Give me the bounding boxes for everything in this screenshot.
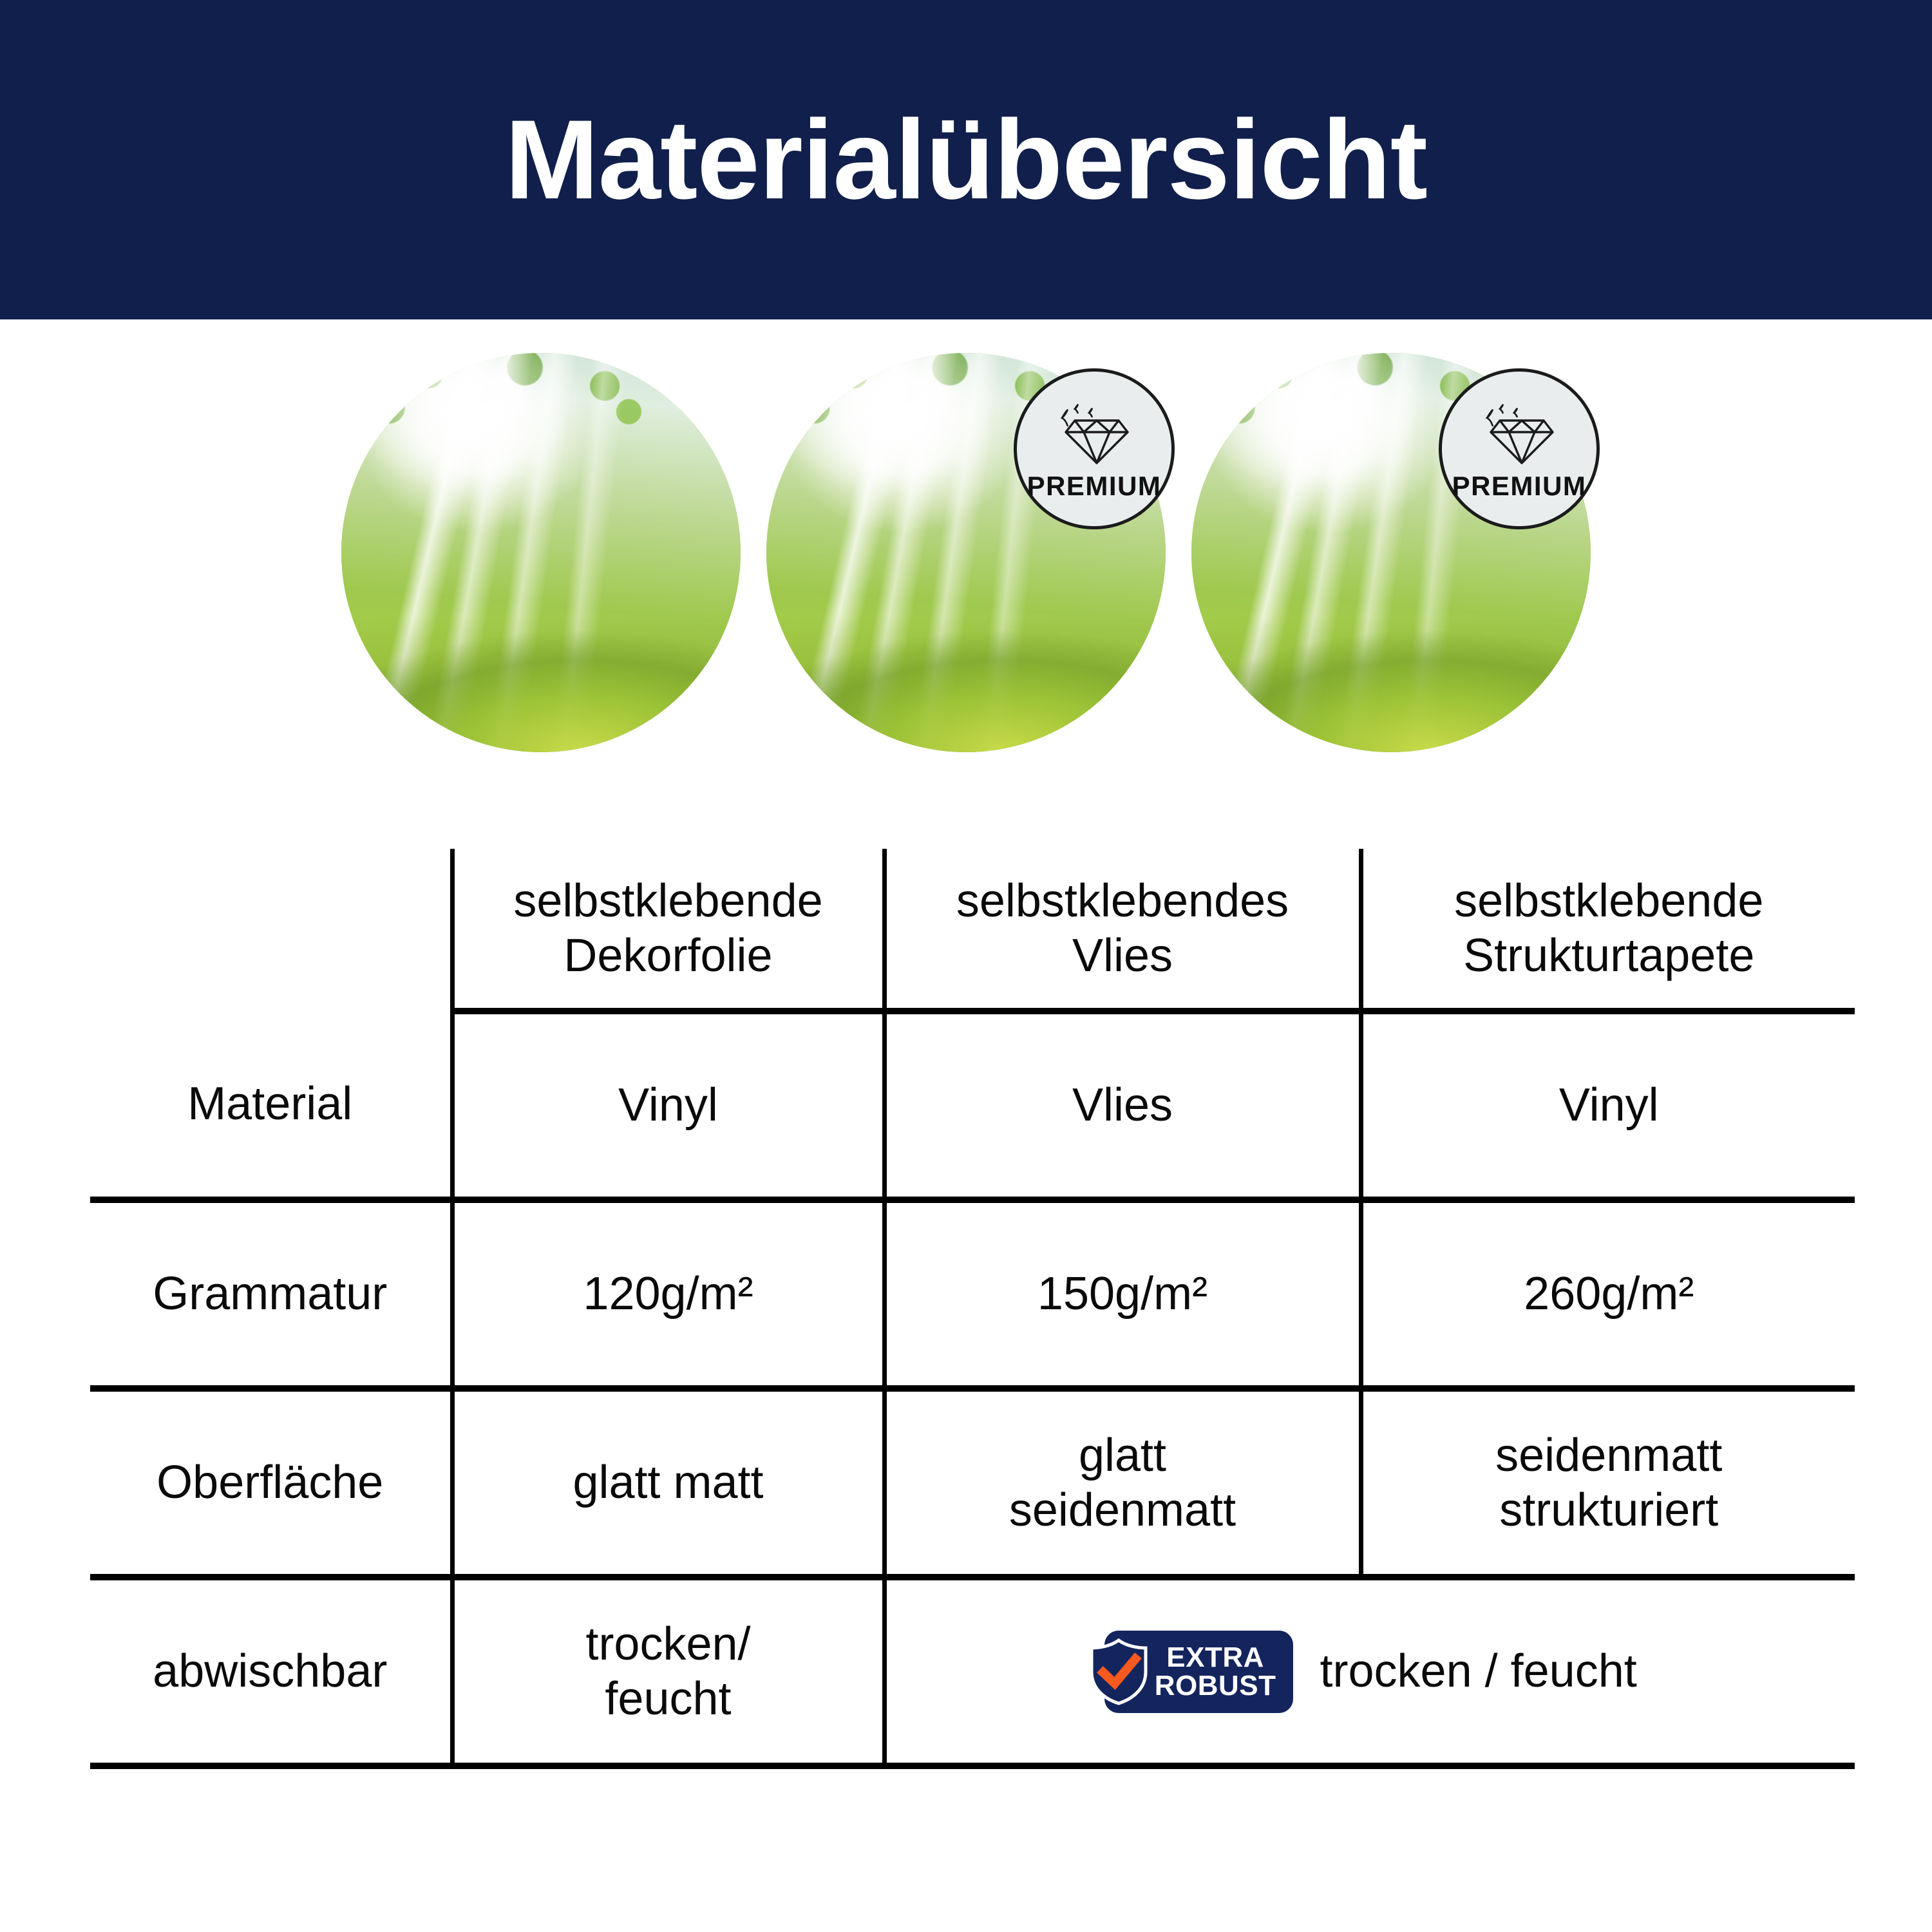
product-preview-2[interactable]: PREMIUM xyxy=(766,353,1166,752)
cell-oberflaeche-strukturtapete: seidenmattstrukturiert xyxy=(1361,1388,1855,1577)
cell-abwischbar-vlies-strukturtapete: EXTRA ROBUST trocken / feucht xyxy=(884,1577,1855,1766)
table-row: Oberfläche glatt matt glattseidenmatt se… xyxy=(90,1388,1855,1577)
table-row: Grammatur 120g/m² 150g/m² 260g/m² xyxy=(90,1200,1855,1388)
column-header-strukturtapete: selbstklebende Strukturtapete xyxy=(1361,849,1855,1011)
row-label-abwischbar: abwischbar xyxy=(90,1577,452,1766)
product-preview-3[interactable]: PREMIUM xyxy=(1191,353,1591,752)
table-header-row: selbstklebende Dekorfolie selbstklebende… xyxy=(90,849,1855,1011)
cell-grammatur-vlies: 150g/m² xyxy=(884,1200,1361,1388)
page-header-banner: Materialübersicht xyxy=(0,0,1932,319)
page-title: Materialübersicht xyxy=(505,104,1427,216)
product-preview-1[interactable] xyxy=(341,353,741,752)
robust-badge-line2: ROBUST xyxy=(1155,1672,1276,1700)
product-preview-row: PREMIUM xyxy=(0,319,1932,809)
cell-grammatur-strukturtapete: 260g/m² xyxy=(1361,1200,1855,1388)
premium-badge: PREMIUM xyxy=(1014,368,1175,529)
cell-material-dekorfolie: Vinyl xyxy=(452,1011,884,1200)
forest-photo-circle xyxy=(341,353,741,752)
row-label-grammatur: Grammatur xyxy=(90,1200,452,1388)
cell-grammatur-dekorfolie: 120g/m² xyxy=(452,1200,884,1388)
material-spec-table: selbstklebende Dekorfolie selbstklebende… xyxy=(90,849,1855,1769)
table-corner-cell xyxy=(90,849,452,1011)
row-label-oberflaeche: Oberfläche xyxy=(90,1388,452,1577)
table-row: Material Vinyl Vlies Vinyl xyxy=(90,1011,1855,1200)
diamond-icon xyxy=(1481,404,1558,469)
shield-check-icon xyxy=(1088,1638,1150,1705)
row-label-material: Material xyxy=(90,1011,452,1200)
premium-badge-label: PREMIUM xyxy=(1452,473,1587,500)
table-row: abwischbar trocken/feucht xyxy=(90,1577,1855,1766)
extra-robust-badge: EXTRA ROBUST xyxy=(1104,1631,1293,1713)
table-body: Material Vinyl Vlies Vinyl Grammatur 120… xyxy=(90,1011,1855,1766)
diamond-icon xyxy=(1056,404,1133,469)
cell-material-vlies: Vlies xyxy=(884,1011,1361,1200)
column-header-dekorfolie: selbstklebende Dekorfolie xyxy=(452,849,884,1011)
cell-material-strukturtapete: Vinyl xyxy=(1361,1011,1855,1200)
robust-badge-line1: EXTRA xyxy=(1155,1643,1276,1672)
premium-badge-label: PREMIUM xyxy=(1027,473,1162,500)
cell-abwischbar-dekorfolie: trocken/feucht xyxy=(452,1577,884,1766)
cell-oberflaeche-vlies: glattseidenmatt xyxy=(884,1388,1361,1577)
premium-badge: PREMIUM xyxy=(1439,368,1600,529)
column-header-vlies: selbstklebendes Vlies xyxy=(884,849,1361,1011)
cell-oberflaeche-dekorfolie: glatt matt xyxy=(452,1388,884,1577)
abwischbar-value-text: trocken / feucht xyxy=(1320,1644,1637,1699)
material-spec-table-area: selbstklebende Dekorfolie selbstklebende… xyxy=(0,849,1932,1769)
table-head: selbstklebende Dekorfolie selbstklebende… xyxy=(90,849,1855,1011)
